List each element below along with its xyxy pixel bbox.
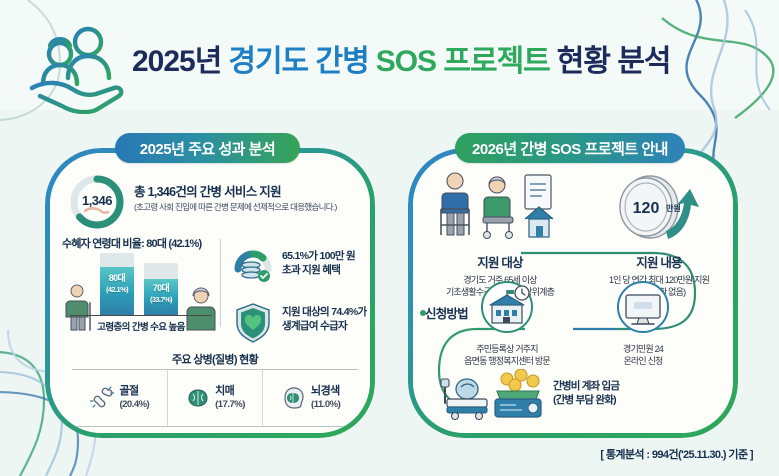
page-header: 2025년 경기도 간병 SOS 프로젝트 현황 분석 bbox=[0, 0, 779, 110]
stat-over-1m: 65.1%가 100만 원 초과 지원 혜택 bbox=[232, 245, 370, 289]
disease-dementia-text: 치매 (17.7%) bbox=[215, 385, 245, 411]
vertical-divider bbox=[220, 239, 221, 327]
summary-headline: 총 1,346건의 간병 서비스 지원 bbox=[134, 181, 281, 200]
bar-70s-label: 70대 bbox=[153, 283, 170, 293]
bar-80s-value: (42.1%) bbox=[106, 285, 128, 294]
summary-row: 1,346 총 1,346건의 간병 서비스 지원 (초고령 사회 진입에 따른… bbox=[64, 171, 364, 233]
bar-80s-label: 80대 bbox=[109, 273, 126, 283]
stat-over-1m-text: 65.1%가 100만 원 초과 지원 혜택 bbox=[282, 249, 355, 277]
deposit-line1: 간병비 계좌 입금 bbox=[553, 379, 619, 393]
method-online-line1: 경기민원 24 bbox=[579, 343, 707, 355]
stat-basic-livelihood: 지원 대상의 74.4%가 생계급여 수급자 bbox=[232, 301, 370, 345]
desktop-monitor-icon bbox=[614, 281, 672, 335]
right-panel: 지원 대상 경기도 거주 65세 이상 기초생활수급자 또는 차상위계층 120… bbox=[408, 148, 738, 438]
bar-70s: 70대 (33.7%) bbox=[144, 263, 178, 315]
method-online-line2: 온라인 신청 bbox=[579, 355, 707, 367]
title-part-4: 현황 분석 bbox=[557, 36, 671, 80]
method-visit-desc: 주민등록상 거주지 읍면동 행정복지센터 방문 bbox=[437, 343, 577, 367]
disease-cell-stroke: 뇌경색 (11.0%) bbox=[262, 370, 358, 426]
stat-over-1m-line1: 65.1%가 100만 원 bbox=[282, 249, 355, 263]
title-part-2: 경기도 간병 bbox=[228, 36, 368, 80]
support-target-item: 지원 대상 경기도 거주 65세 이상 기초생활수급자 또는 차상위계층 bbox=[421, 169, 579, 298]
method-visit-item: 주민등록상 거주지 읍면동 행정복지센터 방문 bbox=[437, 281, 577, 367]
caregiver-on-hand-icon bbox=[22, 22, 130, 114]
right-panel-content: 지원 대상 경기도 거주 65세 이상 기초생활수급자 또는 차상위계층 120… bbox=[413, 153, 733, 433]
disease-fracture-pct: (20.4%) bbox=[119, 398, 149, 411]
support-content-item: 120 만원 지원 내용 1인 당 연간 최대 120만원 지원 (횟수 제한 … bbox=[581, 169, 733, 298]
hospital-bed-icon bbox=[437, 371, 491, 421]
disease-fracture-text: 골절 (20.4%) bbox=[119, 385, 149, 411]
disease-section-title: 주요 상병(질병) 현황 bbox=[50, 351, 370, 367]
coins-gauge-icon bbox=[232, 245, 274, 287]
age-chart-caption: 고령층의 간병 수요 높음 bbox=[62, 319, 220, 333]
bar-group: 80대 (42.1%) 70대 (33.7%) bbox=[98, 253, 182, 315]
coin-120-arrow-icon: 120 만원 bbox=[604, 169, 714, 245]
support-content-head: 지원 내용 bbox=[581, 252, 733, 271]
deposit-line2: (간병 부담 완화) bbox=[553, 393, 619, 407]
deposit-text: 간병비 계좌 입금 (간병 부담 완화) bbox=[553, 379, 619, 407]
method-visit-line2: 읍면동 행정복지센터 방문 bbox=[437, 355, 577, 367]
disease-cell-fracture: 골절 (20.4%) bbox=[72, 370, 167, 426]
shield-heart-icon bbox=[232, 301, 274, 343]
chart-baseline bbox=[70, 315, 212, 316]
head-brain-icon bbox=[281, 385, 307, 411]
stat-basic-livelihood-line1: 지원 대상의 74.4%가 bbox=[282, 305, 366, 319]
brain-icon bbox=[185, 385, 211, 411]
page-title: 2025년 경기도 간병 SOS 프로젝트 현황 분석 bbox=[132, 30, 732, 86]
coin-amount: 120 bbox=[633, 200, 660, 217]
left-panel-badge: 2025년 주요 성과 분석 bbox=[115, 133, 300, 163]
disease-dementia-name: 치매 bbox=[215, 385, 245, 398]
disease-stroke-text: 뇌경색 (11.0%) bbox=[311, 385, 340, 411]
left-panel: 1,346 총 1,346건의 간병 서비스 지원 (초고령 사회 진입에 따른… bbox=[45, 148, 375, 438]
method-online-item: 경기민원 24 온라인 신청 bbox=[579, 281, 707, 367]
disease-dementia-pct: (17.7%) bbox=[215, 398, 245, 411]
disease-stroke-pct: (11.0%) bbox=[311, 398, 340, 411]
left-panel-content: 1,346 총 1,346건의 간병 서비스 지원 (초고령 사회 진입에 따른… bbox=[50, 153, 370, 433]
elderly-couple-house-document-icon bbox=[425, 169, 575, 245]
total-cases-value: 1,346 bbox=[68, 173, 126, 231]
money-box-icon bbox=[489, 369, 547, 421]
footer-note: [ 통계분석 : 994건('25.11.30.) 기준 ] bbox=[600, 446, 753, 462]
support-target-head: 지원 대상 bbox=[421, 252, 579, 271]
age-distribution-chart: 수혜자 연령대 비율: 80대 (42.1%) 80대 (42.1%) bbox=[62, 235, 220, 333]
summary-note: (초고령 사회 진입에 따른 간병 문제에 선제적으로 대응했습니다.) bbox=[134, 201, 337, 213]
deposit-item: 간병비 계좌 입금 (간병 부담 완화) bbox=[433, 369, 733, 429]
right-panel-badge: 2026년 간병 SOS 프로젝트 안내 bbox=[455, 133, 685, 163]
disease-stroke-name: 뇌경색 bbox=[311, 385, 340, 398]
broken-bone-icon bbox=[89, 385, 115, 411]
stat-basic-livelihood-text: 지원 대상의 74.4%가 생계급여 수급자 bbox=[282, 305, 366, 333]
government-office-clock-icon bbox=[476, 281, 538, 335]
bar-70s-value: (33.7%) bbox=[150, 295, 172, 304]
disease-table: 골절 (20.4%) 치매 (17.7%) bbox=[72, 369, 358, 427]
disease-fracture-name: 골절 bbox=[119, 385, 149, 398]
stat-over-1m-line2: 초과 지원 혜택 bbox=[282, 263, 355, 277]
stat-basic-livelihood-line2: 생계급여 수급자 bbox=[282, 319, 366, 333]
bar-80s: 80대 (42.1%) bbox=[100, 253, 134, 315]
disease-cell-dementia: 치매 (17.7%) bbox=[167, 370, 263, 426]
title-part-3: SOS 프로젝트 bbox=[376, 36, 550, 80]
age-chart-title: 수혜자 연령대 비율: 80대 (42.1%) bbox=[62, 235, 201, 251]
method-online-desc: 경기민원 24 온라인 신청 bbox=[579, 343, 707, 367]
method-visit-line1: 주민등록상 거주지 bbox=[437, 343, 577, 355]
title-part-1: 2025년 bbox=[132, 36, 221, 80]
